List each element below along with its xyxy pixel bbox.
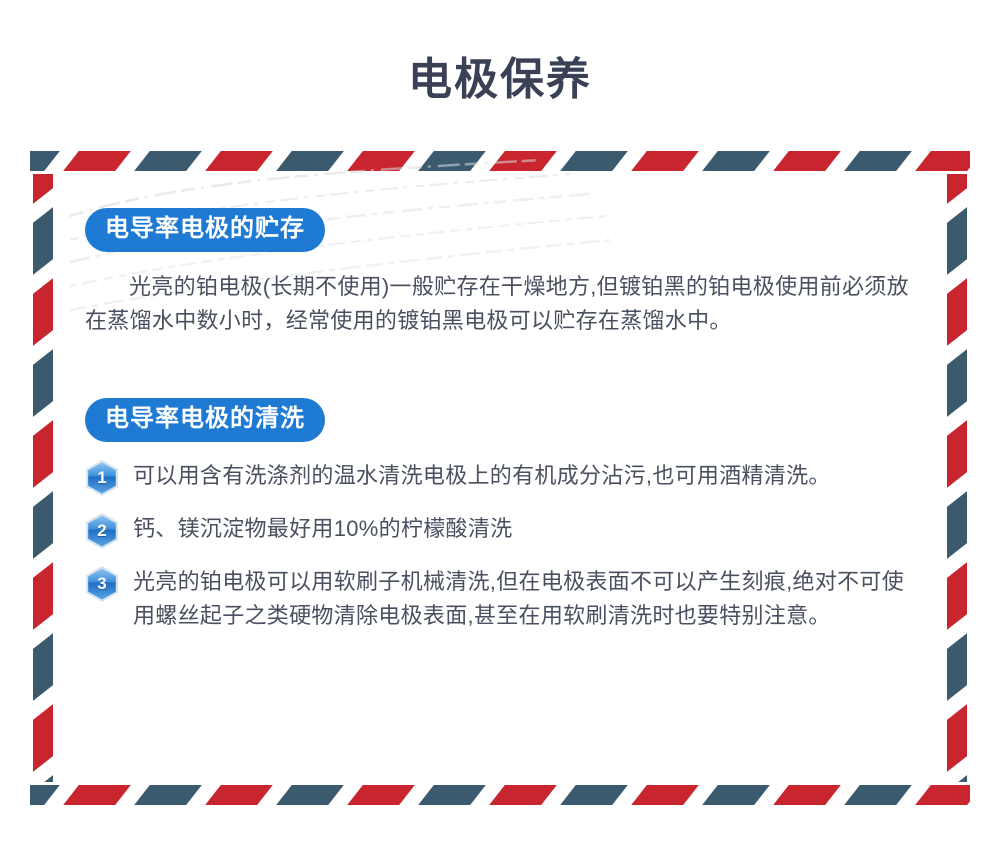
list-item-text: 可以用含有洗涤剂的温水清洗电极上的有机成分沾污,也可用酒精清洗。 xyxy=(133,458,831,493)
envelope-stripe xyxy=(418,151,486,171)
envelope-stripe xyxy=(844,785,912,805)
envelope-stripe xyxy=(33,704,53,772)
envelope-stripe xyxy=(947,278,967,346)
envelope-stripe xyxy=(560,785,628,805)
envelope-stripe xyxy=(773,785,841,805)
section-heading-storage: 电导率电极的贮存 xyxy=(85,208,325,252)
envelope-border-top xyxy=(30,148,970,174)
list-item: 1可以用含有洗涤剂的温水清洗电极上的有机成分沾污,也可用酒精清洗。 xyxy=(85,458,915,497)
envelope-stripe xyxy=(63,151,131,171)
envelope-stripe xyxy=(844,151,912,171)
envelope-stripe xyxy=(347,785,415,805)
envelope-stripe xyxy=(702,151,770,171)
envelope-stripe xyxy=(773,151,841,171)
envelope-stripe xyxy=(947,349,967,417)
section-cleaning: 电导率电极的清洗 1可以用含有洗涤剂的温水清洗电极上的有机成分沾污,也可用酒精清… xyxy=(85,398,915,633)
envelope-stripe xyxy=(560,151,628,171)
hexagon-number-badge-icon: 3 xyxy=(85,565,119,603)
section-spacer xyxy=(85,342,915,398)
envelope-stripe xyxy=(915,785,970,805)
list-item-text: 光亮的铂电极可以用软刷子机械清洗,但在电极表面不可以产生刻痕,绝对不可使用螺丝起… xyxy=(133,564,915,633)
envelope-stripe xyxy=(631,785,699,805)
envelope-stripe xyxy=(33,562,53,630)
envelope-stripe xyxy=(134,785,202,805)
envelope-frame: 电导率电极的贮存 光亮的铂电极(长期不使用)一般贮存在干燥地方,但镀铂黑的铂电极… xyxy=(30,148,970,808)
envelope-stripe xyxy=(33,420,53,488)
envelope-stripe xyxy=(30,785,60,805)
list-item-number: 1 xyxy=(85,459,119,497)
envelope-stripe xyxy=(702,785,770,805)
envelope-stripe xyxy=(134,151,202,171)
document-page: 电极保养 电导率电极的贮存 光亮的铂电极(长期不使用)一般贮存在干燥地方,但镀铂… xyxy=(0,0,1000,868)
list-item-text: 钙、镁沉淀物最好用10%的柠檬酸清洗 xyxy=(133,511,512,546)
envelope-stripe xyxy=(33,174,53,204)
envelope-stripe xyxy=(63,785,131,805)
section-heading-cleaning: 电导率电极的清洗 xyxy=(85,398,325,442)
section-storage: 电导率电极的贮存 光亮的铂电极(长期不使用)一般贮存在干燥地方,但镀铂黑的铂电极… xyxy=(85,208,915,338)
envelope-stripe xyxy=(33,775,53,782)
envelope-stripe xyxy=(947,174,967,204)
envelope-stripe xyxy=(347,151,415,171)
envelope-border-bottom xyxy=(30,782,970,808)
envelope-stripe xyxy=(947,420,967,488)
envelope-stripe xyxy=(947,491,967,559)
envelope-stripe xyxy=(947,562,967,630)
cleaning-steps-list: 1可以用含有洗涤剂的温水清洗电极上的有机成分沾污,也可用酒精清洗。2钙、镁沉淀物… xyxy=(85,458,915,633)
envelope-stripe xyxy=(947,633,967,701)
list-item: 3光亮的铂电极可以用软刷子机械清洗,但在电极表面不可以产生刻痕,绝对不可使用螺丝… xyxy=(85,564,915,633)
hexagon-number-badge-icon: 2 xyxy=(85,512,119,550)
envelope-stripe xyxy=(915,151,970,171)
envelope-stripe xyxy=(33,207,53,275)
envelope-stripe xyxy=(418,785,486,805)
hexagon-number-badge-icon: 1 xyxy=(85,459,119,497)
envelope-stripe xyxy=(947,775,967,782)
envelope-stripe xyxy=(30,151,60,171)
envelope-border-right xyxy=(944,174,970,782)
envelope-border-left xyxy=(30,174,56,782)
envelope-stripe xyxy=(489,785,557,805)
envelope-stripe xyxy=(205,151,273,171)
page-title: 电极保养 xyxy=(0,52,1000,108)
envelope-stripe xyxy=(489,151,557,171)
list-item-number: 2 xyxy=(85,512,119,550)
envelope-stripe xyxy=(276,785,344,805)
envelope-stripe xyxy=(33,278,53,346)
envelope-stripe xyxy=(947,704,967,772)
envelope-stripe xyxy=(33,349,53,417)
section-paragraph-storage: 光亮的铂电极(长期不使用)一般贮存在干燥地方,但镀铂黑的铂电极使用前必须放在蒸馏… xyxy=(85,270,915,338)
envelope-stripe xyxy=(631,151,699,171)
envelope-stripe xyxy=(205,785,273,805)
envelope-stripe xyxy=(33,491,53,559)
list-item: 2钙、镁沉淀物最好用10%的柠檬酸清洗 xyxy=(85,511,915,550)
list-item-number: 3 xyxy=(85,565,119,603)
content-area: 电导率电极的贮存 光亮的铂电极(长期不使用)一般贮存在干燥地方,但镀铂黑的铂电极… xyxy=(85,208,915,647)
envelope-stripe xyxy=(33,633,53,701)
envelope-stripe xyxy=(947,207,967,275)
envelope-stripe xyxy=(276,151,344,171)
